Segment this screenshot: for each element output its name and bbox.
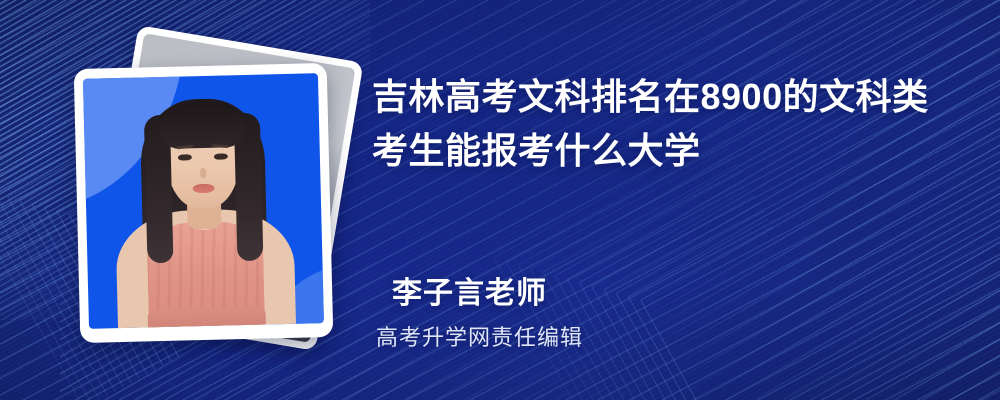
author-name: 李子言老师 bbox=[392, 268, 547, 312]
portrait-eye-right bbox=[213, 153, 227, 159]
banner-title: 吉林高考文科排名在8900的文科类考生能报考什么大学 bbox=[372, 70, 952, 178]
portrait-nose bbox=[200, 168, 206, 178]
article-cover-banner: 吉林高考文科排名在8900的文科类考生能报考什么大学 李子言老师 高考升学网责任… bbox=[0, 0, 1000, 400]
author-photo bbox=[83, 73, 324, 329]
portrait-figure bbox=[83, 73, 324, 329]
author-role: 高考升学网责任编辑 bbox=[376, 320, 583, 352]
photo-card-front bbox=[74, 63, 334, 343]
photo-stack bbox=[0, 0, 400, 400]
portrait-eye-left bbox=[177, 154, 191, 160]
portrait-lips bbox=[192, 184, 214, 194]
portrait-hair-front bbox=[158, 101, 245, 149]
portrait-dress-waist bbox=[147, 307, 266, 329]
text-column: 吉林高考文科排名在8900的文科类考生能报考什么大学 李子言老师 高考升学网责任… bbox=[372, 0, 972, 400]
